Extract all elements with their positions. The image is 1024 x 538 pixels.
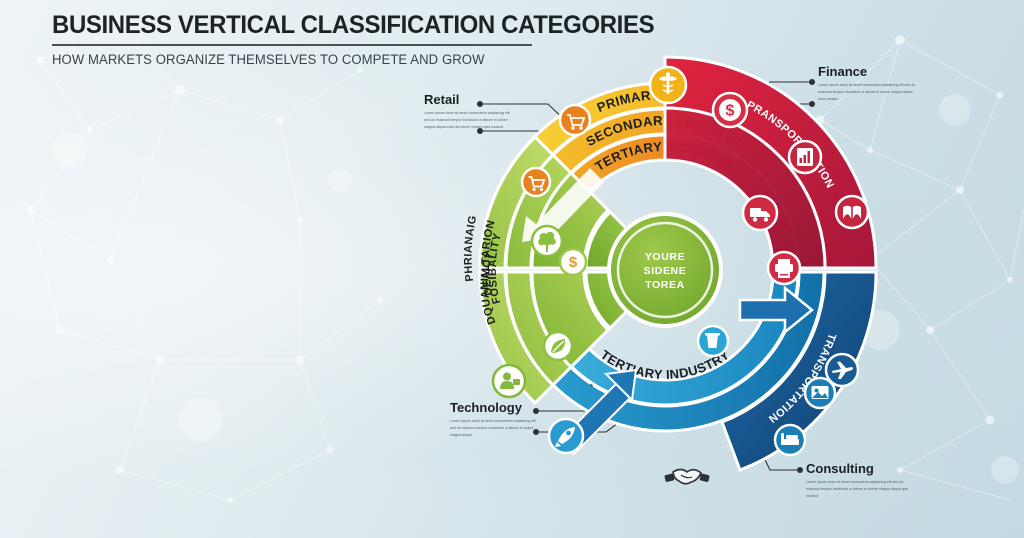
tree-idea-icon[interactable] [532,226,562,256]
leaf-icon[interactable] [544,332,572,360]
svg-text:$: $ [569,254,578,271]
delivery-truck-icon[interactable] [743,196,777,230]
rocket-icon[interactable] [549,419,583,453]
printer-icon[interactable] [768,252,800,284]
caduceus-icon[interactable] [650,67,686,103]
svg-text:$: $ [726,103,735,120]
shopping-cart-icon[interactable] [522,168,550,196]
dollar-coin-icon[interactable]: $ [560,249,586,275]
photo-icon[interactable] [805,378,835,408]
handshake-icon[interactable] [664,470,710,484]
infographic-canvas: BUSINESS VERTICAL CLASSIFICATION CATEGOR… [0,0,1024,538]
bar-chart-icon[interactable] [789,141,821,173]
dollar-coin-icon[interactable]: $ [713,93,747,127]
open-book-icon[interactable] [836,196,868,228]
icon-bubble-layer: $ [0,0,1024,538]
cup-icon[interactable] [698,326,728,356]
bed-icon[interactable] [775,425,805,455]
user-gear-icon[interactable] [493,365,525,397]
shopping-cart-icon[interactable] [560,105,590,135]
